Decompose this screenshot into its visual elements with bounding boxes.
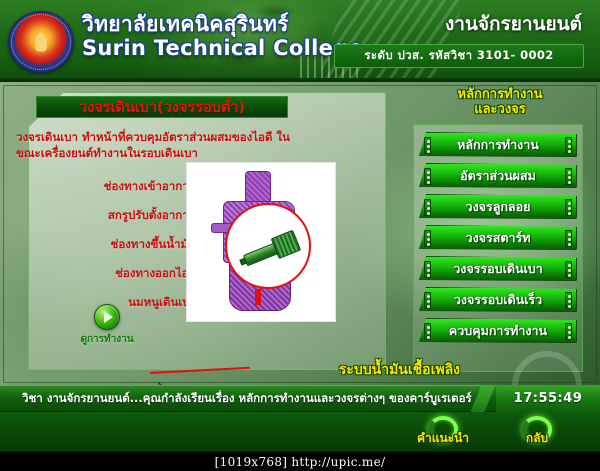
- menu-item-start-circuit-label: วงจรสตาร์ท: [466, 228, 531, 248]
- button-stud-right-icon: [565, 292, 572, 309]
- topic-menu-heading-line2: และวงจร: [410, 103, 590, 118]
- mouse-cursor-icon: [157, 382, 170, 385]
- menu-item-working-principle[interactable]: หลักการทำงาน: [419, 132, 577, 157]
- idle-jet-zoom-graphic: [241, 229, 303, 271]
- advice-button[interactable]: คำแนะนำ: [398, 416, 488, 450]
- course-title: งานจักรยานยนต์: [445, 9, 582, 39]
- button-stud-left-icon: [424, 261, 431, 278]
- image-watermark: [1019x768] http://upic.me/: [0, 452, 600, 471]
- menu-item-high-speed-circuit-label: วงจรรอบเดินเร็ว: [454, 290, 542, 310]
- part-label-fuel-passage[interactable]: ช่องทางขึ้นน้ำมัน: [10, 236, 200, 254]
- menu-item-high-speed-circuit[interactable]: วงจรรอบเดินเร็ว: [419, 287, 577, 312]
- button-stud-left-icon: [424, 137, 431, 154]
- stage-footer-label: ระบบน้ำมันเชื้อเพลิง: [339, 359, 460, 381]
- menu-item-start-circuit[interactable]: วงจรสตาร์ท: [419, 225, 577, 250]
- button-stud-right-icon: [565, 261, 572, 278]
- college-seal-logo: [8, 11, 74, 73]
- college-name-english: Surin Technical College: [82, 36, 363, 60]
- menu-item-mixture-ratio[interactable]: อัตราส่วนผสม: [419, 163, 577, 188]
- lesson-stage: วงจรเดินเบา(วงจรรอบต่ำ) วงจรเดินเบา ทำหน…: [0, 82, 600, 385]
- status-bar: วิชา งานจักรยานยนต์...คุณกำลังเรียนเรื่อ…: [0, 385, 600, 412]
- menu-item-idle-circuit-label: วงจรรอบเดินเบา: [453, 259, 542, 279]
- application-window: วิทยาลัยเทคนิคสุรินทร์ Surin Technical C…: [0, 0, 600, 471]
- menu-item-working-principle-label: หลักการทำงาน: [457, 135, 539, 155]
- play-button[interactable]: [94, 304, 120, 330]
- topic-menu-heading: หลักการทำงาน และวงจร: [410, 86, 590, 117]
- button-stud-right-icon: [565, 323, 572, 340]
- menu-item-float-circuit-label: วงจรลูกลอย: [466, 197, 531, 217]
- magnifier-circle: [225, 203, 311, 289]
- topic-menu: หลักการทำงาน และวงจร หลักการทำงาน อัตราส…: [410, 86, 590, 376]
- menu-item-operation-control-label: ควบคุมการทำงาน: [449, 321, 547, 341]
- carburetor-illustration: [186, 162, 336, 322]
- button-stud-left-icon: [424, 199, 431, 216]
- status-message: วิชา งานจักรยานยนต์...คุณกำลังเรียนเรื่อ…: [0, 390, 476, 408]
- button-stud-right-icon: [565, 230, 572, 247]
- button-stud-left-icon: [424, 323, 431, 340]
- part-label-mixture-outlet-text: ช่องทางออกไอดี: [115, 266, 196, 280]
- clock-display: 17:55:49: [496, 385, 600, 412]
- menu-item-idle-circuit[interactable]: วงจรรอบเดินเบา: [419, 256, 577, 281]
- content-title: วงจรเดินเบา(วงจรรอบต่ำ): [36, 96, 288, 118]
- menu-item-mixture-ratio-label: อัตราส่วนผสม: [460, 166, 536, 186]
- button-stud-left-icon: [424, 292, 431, 309]
- page-header: วิทยาลัยเทคนิคสุรินทร์ Surin Technical C…: [0, 0, 600, 82]
- bottom-toolbar: คำแนะนำ กลับ: [0, 412, 600, 452]
- part-label-air-inlet[interactable]: ช่องทางเข้าอากาศ: [10, 178, 200, 196]
- button-stud-right-icon: [565, 168, 572, 185]
- button-stud-left-icon: [424, 230, 431, 247]
- highlighted-idle-jet-marker: [255, 289, 261, 305]
- advice-button-label: คำแนะนำ: [417, 429, 469, 450]
- part-label-list: ช่องทางเข้าอากาศ สกรูปรับตั้งอากาศ ช่องท…: [10, 178, 200, 323]
- part-label-air-inlet-text: ช่องทางเข้าอากาศ: [104, 179, 196, 193]
- part-label-air-screw-text: สกรูปรับตั้งอากาศ: [108, 208, 196, 222]
- part-label-air-screw[interactable]: สกรูปรับตั้งอากาศ: [10, 207, 200, 225]
- menu-item-float-circuit[interactable]: วงจรลูกลอย: [419, 194, 577, 219]
- topic-menu-heading-line1: หลักการทำงาน: [410, 88, 590, 103]
- back-button[interactable]: กลับ: [492, 416, 582, 450]
- button-stud-right-icon: [565, 199, 572, 216]
- play-button-label: ดูการทำงาน: [72, 332, 142, 347]
- button-stud-right-icon: [565, 137, 572, 154]
- course-code-badge: ระดับ ปวส. รหัสวิชา 3101- 0002: [334, 44, 584, 68]
- content-description: วงจรเดินเบา ทำหน้าที่ควบคุมอัตราส่วนผสมข…: [16, 130, 312, 161]
- play-animation-control[interactable]: ดูการทำงาน: [72, 304, 142, 347]
- topic-menu-box: หลักการทำงาน อัตราส่วนผสม วงจรลูกลอย วงจ…: [413, 124, 583, 372]
- button-stud-left-icon: [424, 168, 431, 185]
- part-label-fuel-passage-text: ช่องทางขึ้นน้ำมัน: [111, 237, 196, 251]
- back-button-label: กลับ: [526, 429, 548, 450]
- seal-core: [24, 26, 58, 58]
- seal-figure-icon: [35, 34, 47, 51]
- part-label-mixture-outlet[interactable]: ช่องทางออกไอดี: [10, 265, 200, 283]
- menu-item-operation-control[interactable]: ควบคุมการทำงาน: [419, 318, 577, 343]
- play-triangle-icon: [104, 311, 113, 323]
